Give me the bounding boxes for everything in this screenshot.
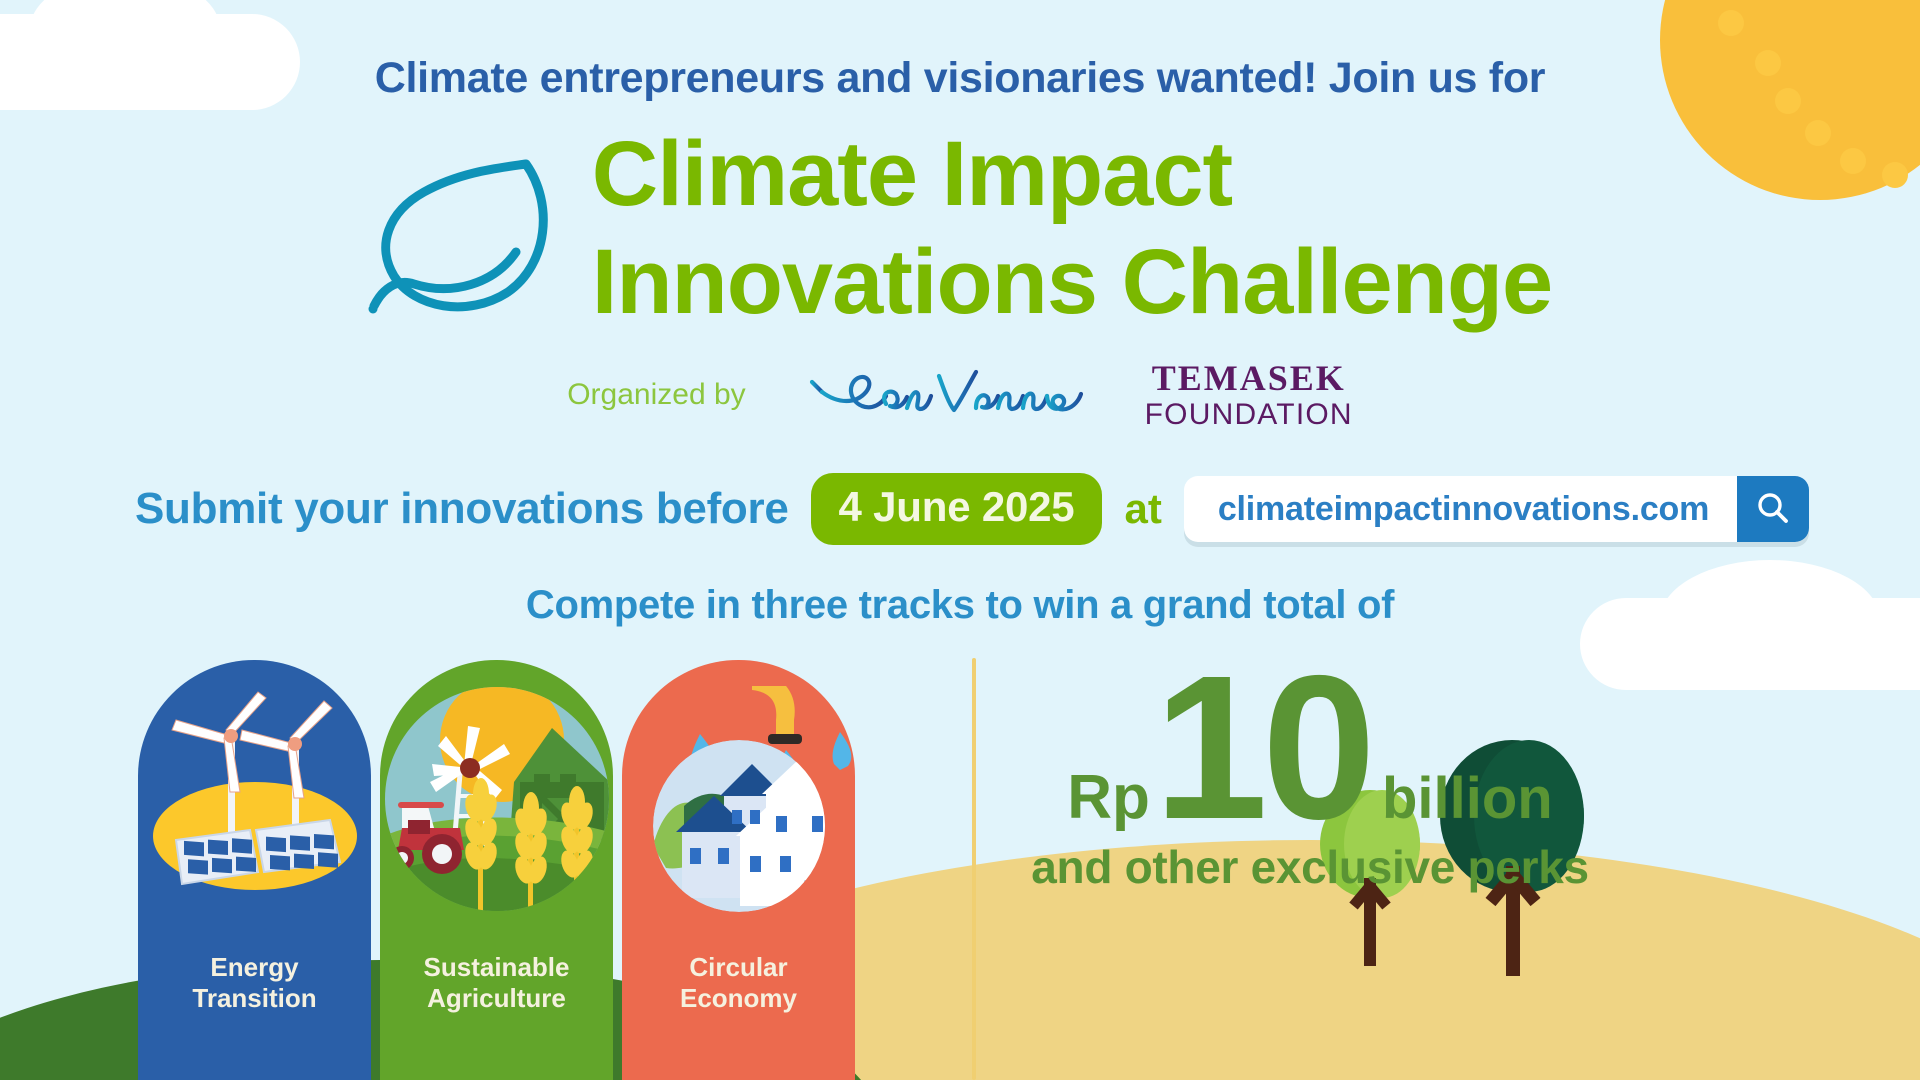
track-label-energy-transition: Energy Transition (138, 952, 371, 1014)
water-tap (752, 686, 802, 744)
title-block: Climate Impact Innovations Challenge (0, 128, 1920, 328)
track-label-line-2: Economy (622, 983, 855, 1014)
track-card-sustainable-agriculture[interactable]: Sustainable Agriculture (380, 660, 613, 1080)
poster-canvas: Climate entrepreneurs and visionaries wa… (0, 0, 1920, 1080)
tracks-row: Energy Transition (138, 660, 855, 1080)
track-label-line-2: Transition (138, 983, 371, 1014)
submit-row: Submit your innovations before 4 June 20… (135, 473, 1809, 545)
farm-windmill-tractor-icon (384, 686, 610, 912)
search-button[interactable] (1737, 476, 1809, 542)
url-text[interactable]: climateimpactinnovations.com (1184, 490, 1737, 529)
track-card-circular-economy[interactable]: Circular Economy (622, 660, 855, 1080)
organizers-row: Organized by (0, 360, 1920, 430)
search-icon (1754, 490, 1792, 528)
foundation-wordmark: FOUNDATION (1145, 400, 1353, 430)
village-water-tap-icon (626, 686, 852, 912)
track-label-line-1: Energy (138, 952, 371, 983)
sun-ray-dot (1718, 10, 1744, 36)
leaf-icon (368, 134, 558, 314)
deadline-badge: 4 June 2025 (811, 473, 1103, 545)
prize-number: 10 (1154, 660, 1370, 836)
temasek-foundation-logo[interactable]: TEMASEK FOUNDATION (1145, 360, 1353, 430)
track-card-energy-transition[interactable]: Energy Transition (138, 660, 371, 1080)
at-connector: at (1124, 485, 1161, 533)
temasek-wordmark: TEMASEK (1145, 360, 1353, 396)
organized-by-label: Organized by (567, 378, 745, 412)
track-label-sustainable-agriculture: Sustainable Agriculture (380, 952, 613, 1014)
track-label-line-2: Agriculture (380, 983, 613, 1014)
title-line-1: Climate Impact (592, 128, 1552, 220)
prize-amount: Rp 10 billion (1000, 660, 1620, 836)
track-label-line-1: Sustainable (380, 952, 613, 983)
track-label-circular-economy: Circular Economy (622, 952, 855, 1014)
prize-extra: and other exclusive perks (1000, 840, 1620, 894)
prize-unit: billion (1382, 765, 1553, 832)
prize-currency: Rp (1067, 762, 1150, 833)
title-line-2: Innovations Challenge (592, 236, 1552, 328)
wind-turbine-solar-panel-icon (142, 686, 368, 912)
prize-block: Rp 10 billion and other exclusive perks (1000, 660, 1620, 894)
kicker-headline: Climate entrepreneurs and visionaries wa… (0, 54, 1920, 103)
tracks-intro: Compete in three tracks to win a grand t… (0, 583, 1920, 628)
track-label-line-1: Circular (622, 952, 855, 983)
section-divider (972, 658, 976, 1080)
url-search-bar[interactable]: climateimpactinnovations.com (1184, 476, 1809, 542)
east-ventures-logo[interactable] (808, 364, 1083, 426)
submit-label: Submit your innovations before (135, 484, 789, 534)
